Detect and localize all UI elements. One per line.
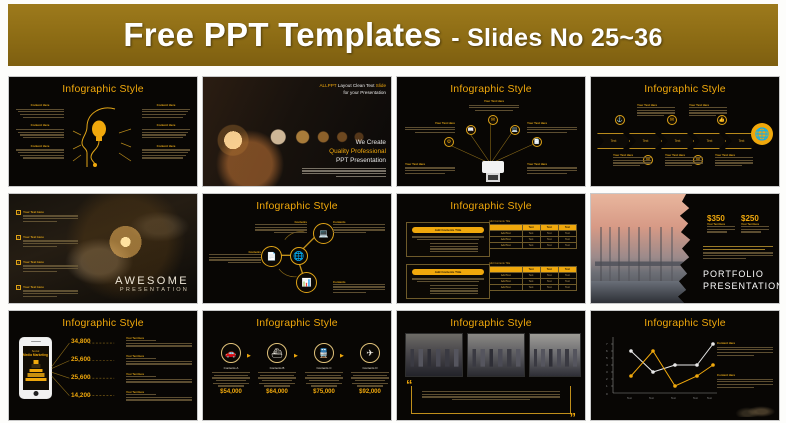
process-step-2: Text (629, 133, 662, 149)
item-text (209, 372, 253, 387)
table-cell: Add Text (490, 285, 523, 291)
item-label: Contents A (209, 366, 253, 370)
node-icon-monitor: 💻 (510, 125, 520, 135)
content-block-text (405, 127, 455, 134)
headline-accent: Slide (376, 83, 386, 88)
data-table-2: Add Contents Title Text Text Text Add Te… (489, 262, 577, 291)
step-icon-chat-upper: ✉ (667, 115, 677, 125)
svg-text:1: 1 (606, 384, 608, 388)
content-block: Content Here (142, 103, 190, 118)
checklist-item-4: ✓ Your Text Here (16, 285, 78, 297)
brand-headline: AWESOME PRESENTATION (115, 275, 189, 293)
checklist-text (23, 290, 78, 297)
content-box-2: Add Contents Title (406, 264, 490, 299)
car-icon: 🚗 (221, 343, 241, 363)
slide-thumbnail-11[interactable]: Infographic Style “ ” (396, 310, 586, 421)
slide-thumbnail-7[interactable]: Infographic Style Add Contents Title Add… (396, 193, 586, 304)
pricing-item-4: ✈ Contents D $92,000 (348, 343, 392, 395)
skyline-shape (468, 334, 524, 376)
tagline-group: We Create Quality Professional PPT Prese… (302, 138, 386, 177)
content-block-text (126, 358, 192, 365)
step-content-upper-1: Your Text Here (637, 103, 675, 116)
slide-thumbnail-2[interactable]: ALLPPT Layout Clean Text Slide for your … (202, 76, 392, 187)
data-value-2: 25,600 (71, 356, 91, 363)
legend-block-2: Content Here (717, 373, 773, 388)
water-area (591, 281, 694, 303)
page-banner: Free PPT Templates - Slides No 25~36 (8, 4, 778, 66)
checklist-body: Your Text Here (23, 235, 78, 247)
check-icon: ✓ (16, 235, 21, 240)
table-cell: Add Text (490, 243, 523, 249)
tagline-line-3: PPT Presentation (302, 156, 386, 165)
step-label: Text (739, 139, 745, 143)
content-block-heading: Your Text Here (527, 162, 577, 166)
content-block-text (16, 149, 64, 158)
step-content-upper-2: Your Text Here (689, 103, 727, 116)
skyline-shape (406, 334, 462, 376)
city-photo-1 (405, 333, 463, 377)
content-block-text (637, 107, 675, 116)
airplane-icon: ✈ (360, 343, 380, 363)
content-block-text (16, 129, 64, 138)
content-block-text (126, 376, 192, 383)
checklist-heading: Your Text Here (23, 260, 78, 264)
content-block-heading: Content Here (142, 144, 190, 148)
slide-thumbnail-4[interactable]: Infographic Style Text Text Text Text Te… (590, 76, 780, 187)
slide-title: Infographic Style (397, 317, 585, 329)
content-block-heading: Content Here (16, 123, 64, 127)
skyline-shape (530, 334, 580, 376)
portfolio-headline: PORTFOLIO PRESENTATION (703, 269, 780, 291)
portfolio-title-2: PRESENTATION (703, 281, 780, 291)
printer-icon (478, 161, 508, 183)
headline-line-2: for your Presentation (319, 90, 386, 97)
node-icon-gear: ⚙ (444, 137, 454, 147)
step-content-lower-3: Your Text Here (715, 153, 753, 166)
step-label: Text (611, 139, 617, 143)
checklist-text (23, 240, 78, 247)
checklist-body: Your Text Here (23, 260, 78, 272)
content-block-text (405, 167, 455, 174)
separator-arrow-3: ▶ (340, 353, 344, 359)
content-block-text (255, 224, 307, 233)
content-block: Content Here (16, 144, 64, 159)
content-block-heading: Your Text Here (527, 121, 577, 125)
slide-title: Infographic Style (397, 200, 585, 212)
check-icon: ✓ (16, 260, 21, 265)
content-block-heading: Content Here (142, 103, 190, 107)
item-text (255, 372, 299, 387)
brand-label: ALLPPT (319, 83, 336, 88)
slide-thumbnail-3[interactable]: Infographic Style ✉ 📖 💻 ⚙ 📄 Your Text He… (396, 76, 586, 187)
checklist-heading: Your Text Here (23, 285, 78, 289)
content-block-text (613, 157, 651, 166)
content-block: Content Here (142, 123, 190, 138)
step-icon-thumbs-up: 👍 (717, 115, 727, 125)
quote-close-icon: ” (570, 411, 577, 421)
check-icon: ✓ (16, 285, 21, 290)
content-block-text (715, 157, 753, 166)
content-block-text (527, 167, 577, 174)
right-content-column: Content Here Content Here Content Here (142, 103, 190, 164)
content-block-text (665, 157, 703, 166)
content-block-bottom-left: Your Text Here (405, 162, 455, 174)
table-cell: Text (540, 285, 558, 291)
content-block-text (469, 105, 519, 112)
left-content-column: Content Here Content Here Content Here (16, 103, 64, 164)
content-box-text (412, 278, 484, 282)
step-label: Text (707, 139, 713, 143)
svg-text:Text: Text (707, 396, 712, 400)
step-content-lower-1: Your Text Here (613, 153, 651, 166)
node-top-right: 💻 (313, 223, 334, 244)
checklist-text (23, 265, 78, 272)
content-block-4: Your Text Here (126, 391, 192, 401)
svg-text:0: 0 (606, 392, 608, 396)
connector-lines (9, 311, 197, 420)
headline-text: Layout Clean Text (338, 83, 375, 88)
banner-title-main: Free PPT Templates (123, 16, 441, 53)
item-text (348, 372, 392, 387)
content-block-top: Your Text Here (469, 99, 519, 111)
slide-title: Infographic Style (203, 317, 391, 329)
item-price: $54,000 (209, 389, 253, 395)
svg-text:6: 6 (606, 349, 608, 353)
content-block: Content Here (16, 123, 64, 138)
content-block-bottom: Contents (333, 280, 385, 293)
tagline-line-1: We Create (302, 138, 386, 147)
svg-text:3: 3 (606, 370, 608, 374)
train-icon: 🚆 (314, 343, 334, 363)
content-box-bullets (430, 243, 478, 252)
price-text (741, 226, 769, 233)
content-block-text (142, 109, 190, 118)
checklist-heading: Your Text Here (23, 235, 78, 239)
content-block-text (16, 109, 64, 118)
svg-text:Text: Text (627, 396, 632, 400)
center-node-globe: 🌐 (290, 247, 308, 265)
content-block-heading: Your Text Here (405, 162, 455, 166)
node-icon-book: 📖 (466, 125, 476, 135)
slide-title: Infographic Style (591, 317, 779, 329)
pricing-item-1: 🚗 Contents A $54,000 (209, 343, 253, 395)
legend-text (717, 379, 773, 388)
content-block-text (126, 394, 192, 401)
legend-text (717, 347, 773, 356)
process-step-4: Text (693, 133, 726, 149)
caption-text (302, 168, 386, 177)
node-icon-document: 📄 (532, 137, 542, 147)
content-block-3: Your Text Here (126, 373, 192, 383)
content-block-text (689, 107, 727, 116)
table-caption: Add Contents Title (489, 262, 577, 265)
content-block-bottom-right: Your Text Here (527, 162, 577, 174)
table-caption: Add Contents Title (489, 220, 577, 223)
table: Text Text Text Add Text Text Text Text A… (489, 224, 577, 249)
price-block-2: $250 Your Text Here (741, 214, 769, 233)
svg-text:Text: Text (649, 396, 654, 400)
content-block-heading: Your Text Here (469, 99, 519, 103)
svg-text:2: 2 (606, 377, 608, 381)
process-step-3: Text (661, 133, 694, 149)
content-block-left: Your Text Here (405, 121, 455, 133)
content-block-heading: Content Here (16, 103, 64, 107)
svg-text:5: 5 (606, 356, 608, 360)
checklist-text (23, 215, 78, 222)
content-box-pill: Add Contents Title (412, 227, 484, 233)
slide-thumbnail-9[interactable]: Infographic Style Social Media Marketing (8, 310, 198, 421)
content-block-text (209, 254, 261, 263)
content-block-heading: Content Here (16, 144, 64, 148)
legend-block-1: Content Here (717, 341, 773, 356)
separator-arrow-2: ▶ (294, 353, 298, 359)
item-text (302, 372, 346, 387)
content-box-1: Add Contents Title (406, 222, 490, 257)
table-cell: Text (558, 285, 576, 291)
city-photo-2 (467, 333, 525, 377)
price-value: $350 (707, 214, 735, 223)
slide-thumbnail-8[interactable]: $350 Your Text Here $250 Your Text Here … (590, 193, 780, 304)
lead-text (703, 246, 773, 259)
content-box-pill: Add Contents Title (412, 269, 484, 275)
brand-line-2: PRESENTATION (115, 287, 189, 293)
quote-open-icon: “ (406, 378, 413, 391)
table-cell: Text (540, 243, 558, 249)
item-label: Contents D (348, 366, 392, 370)
item-label: Contents C (302, 366, 346, 370)
content-block-text (527, 127, 577, 134)
item-price: $64,000 (255, 389, 299, 395)
slide-thumbnail-6[interactable]: Infographic Style 🌐 💻 📄 📊 Contents Conte… (202, 193, 392, 304)
checklist-body: Your Text Here (23, 285, 78, 297)
harbor-photo (591, 194, 694, 303)
step-icon-anchor: ⚓ (615, 115, 625, 125)
headline-group: ALLPPT Layout Clean Text Slide for your … (319, 83, 386, 97)
item-label: Contents B (255, 366, 299, 370)
checklist-item-2: ✓ Your Text Here (16, 235, 78, 247)
svg-text:Text: Text (671, 396, 676, 400)
content-block-text (142, 149, 190, 158)
pricing-item-2: ⛴ Contents B $64,000 (255, 343, 299, 395)
checklist-body: Your Text Here (23, 210, 78, 222)
node-left: 📄 (261, 246, 282, 267)
table: Text Text Text Add Text Text Text Text A… (489, 266, 577, 291)
lightbulb-head-icon (71, 103, 135, 169)
cranes-silhouette (595, 227, 686, 284)
content-block-left: Contents (209, 250, 261, 263)
check-icon: ✓ (16, 210, 21, 215)
price-value: $250 (741, 214, 769, 223)
data-value-4: 14,200 (71, 392, 91, 399)
pricing-item-3: 🚆 Contents C $75,000 (302, 343, 346, 395)
table-cell: Text (522, 285, 540, 291)
slide-title: Infographic Style (9, 83, 197, 95)
legend-heading: Content Here (717, 341, 773, 345)
data-table-1: Add Contents Title Text Text Text Add Te… (489, 220, 577, 249)
content-block-right: Your Text Here (527, 121, 577, 133)
content-block-top: Contents (255, 220, 307, 233)
content-box-text (412, 236, 484, 240)
banner-title: Free PPT Templates - Slides No 25~36 (123, 16, 662, 54)
brand-line-1: AWESOME (115, 275, 189, 287)
data-value-3: 25,600 (71, 374, 91, 381)
separator-arrow-1: ▶ (247, 353, 251, 359)
quote-box: “ ” (411, 386, 571, 414)
svg-text:Text: Text (693, 396, 698, 400)
svg-text:4: 4 (606, 363, 608, 367)
table-row: Add Text Text Text Text (490, 243, 577, 249)
content-block: Content Here (16, 103, 64, 118)
globe-icon: 🌐 (751, 123, 773, 145)
slide-thumbnail-grid: Infographic Style Content Here Content H… (8, 76, 780, 421)
price-block-1: $350 Your Text Here (707, 214, 735, 233)
table-cell: Text (558, 243, 576, 249)
content-block-text (126, 340, 192, 347)
content-box-bullets (430, 285, 478, 294)
slide-thumbnail-5[interactable]: ✓ Your Text Here ✓ Your Text Here ✓ Your… (8, 193, 198, 304)
body-lines (703, 252, 773, 259)
tagline-line-2: Quality Professional (302, 147, 386, 156)
step-label: Text (643, 139, 649, 143)
content-block-2: Your Text Here (126, 355, 192, 365)
item-price: $92,000 (348, 389, 392, 395)
table-cell: Text (522, 243, 540, 249)
step-content-lower-2: Your Text Here (665, 153, 703, 166)
data-value-1: 34,800 (71, 338, 91, 345)
step-label: Text (675, 139, 681, 143)
slide-thumbnail-12[interactable]: Infographic Style 012 345 67 TextTextTex… (590, 310, 780, 421)
banner-title-sub: - Slides No 25~36 (451, 24, 662, 52)
content-block: Content Here (142, 144, 190, 159)
ship-icon: ⛴ (267, 343, 287, 363)
lead-lines (703, 246, 773, 250)
quote-text (422, 391, 560, 400)
price-text (707, 226, 735, 233)
content-block-text (142, 129, 190, 138)
content-block-right: Contents (333, 220, 385, 233)
legend-heading: Content Here (717, 373, 773, 377)
headline-line-1: ALLPPT Layout Clean Text Slide (319, 83, 386, 90)
node-icon-chat: ✉ (488, 115, 498, 125)
decorative-texture (729, 399, 775, 417)
content-block-text (333, 284, 385, 293)
portfolio-title-1: PORTFOLIO (703, 269, 780, 279)
checklist-heading: Your Text Here (23, 210, 78, 214)
checklist-item-3: ✓ Your Text Here (16, 260, 78, 272)
slide-thumbnail-1[interactable]: Infographic Style Content Here Content H… (8, 76, 198, 187)
svg-text:7: 7 (606, 342, 608, 346)
slide-title: Infographic Style (591, 83, 779, 95)
item-price: $75,000 (302, 389, 346, 395)
table-row: Add Text Text Text Text (490, 285, 577, 291)
content-block-1: Your Text Here (126, 337, 192, 347)
process-step-1: Text (597, 133, 630, 149)
content-block-text (333, 224, 385, 233)
content-block-heading: Content Here (142, 123, 190, 127)
node-bottom: 📊 (296, 272, 317, 293)
slide-thumbnail-10[interactable]: Infographic Style 🚗 Contents A $54,000 ⛴… (202, 310, 392, 421)
line-chart: 012 345 67 TextTextText TextText (603, 335, 723, 405)
content-block-heading: Your Text Here (405, 121, 455, 125)
city-photo-3 (529, 333, 581, 377)
checklist-item-1: ✓ Your Text Here (16, 210, 78, 222)
